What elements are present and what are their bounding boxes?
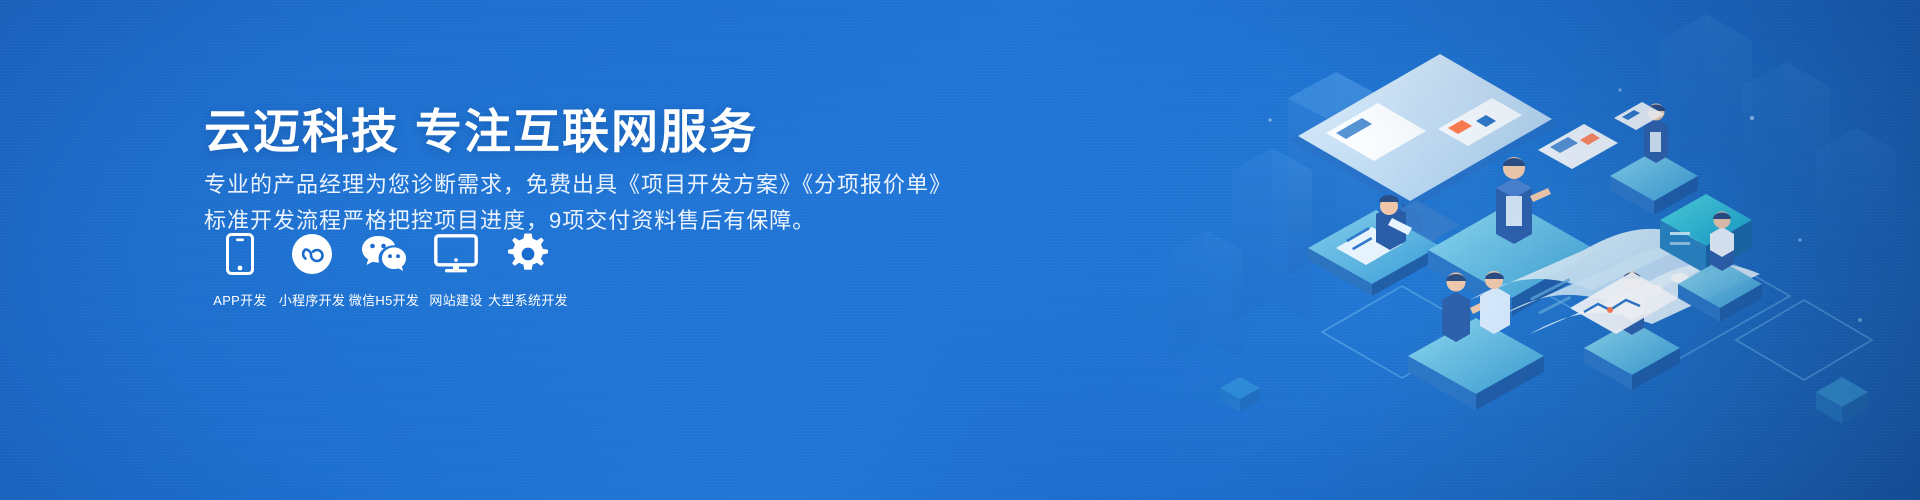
service-icon-row: APP开发 小程序开发 [204,232,564,309]
isometric-tech-team-illustration [1140,0,1920,500]
hero-banner: 云迈科技 专注互联网服务 专业的产品经理为您诊断需求，免费出具《项目开发方案》《… [0,0,1920,500]
service-item-wechat[interactable]: 微信H5开发 [348,232,420,309]
mobile-phone-icon [226,232,254,276]
banner-content: 云迈科技 专注互联网服务 专业的产品经理为您诊断需求，免费出具《项目开发方案》《… [204,0,964,500]
service-label-website: 网站建设 [429,290,482,309]
service-item-website[interactable]: 网站建设 [420,232,492,309]
monitor-icon [434,232,478,276]
service-item-miniprogram[interactable]: 小程序开发 [276,232,348,309]
floating-cubes [1220,377,1868,424]
city-buildings [1170,14,1896,360]
service-label-system: 大型系统开发 [488,290,568,309]
gear-icon [507,232,549,276]
service-label-wechat: 微信H5开发 [349,290,419,309]
service-label-miniprogram: 小程序开发 [279,290,346,309]
service-label-app: APP开发 [213,290,267,309]
wechat-icon [361,232,407,276]
service-item-system[interactable]: 大型系统开发 [492,232,564,309]
mini-program-icon [291,232,333,276]
banner-subtitle-line1: 专业的产品经理为您诊断需求，免费出具《项目开发方案》《分项报价单》 [204,168,952,202]
service-item-app[interactable]: APP开发 [204,232,276,309]
banner-title: 云迈科技 专注互联网服务 [204,103,758,161]
